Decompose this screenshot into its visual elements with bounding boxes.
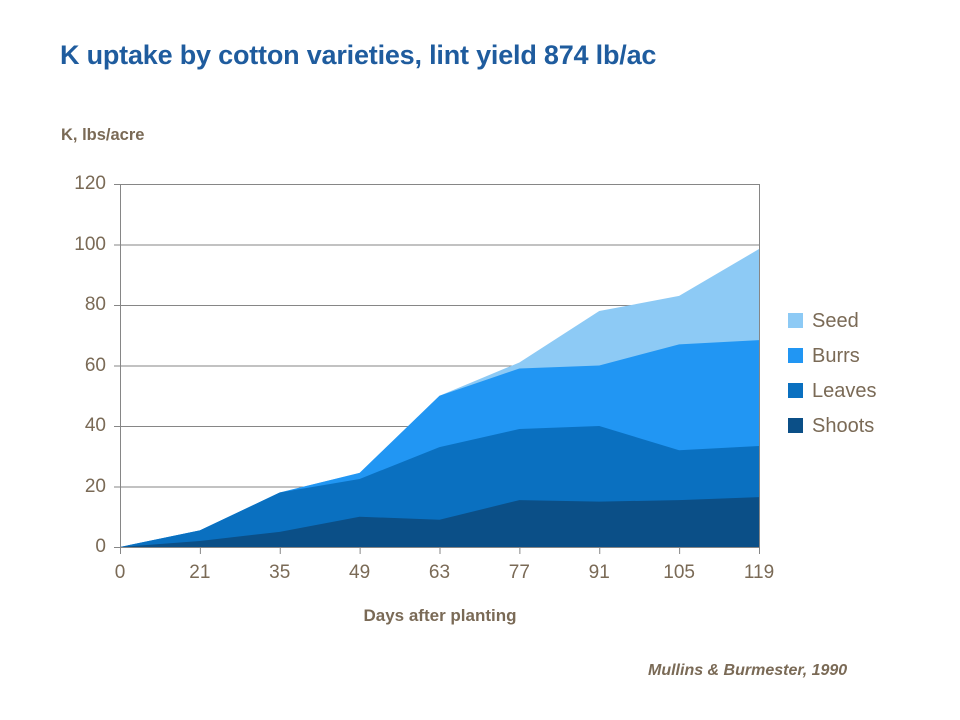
legend-item-seed[interactable]: Seed: [788, 303, 948, 338]
x-tick-label: 77: [489, 563, 549, 582]
y-tick-label: 0: [52, 537, 106, 556]
legend-swatch-icon: [788, 383, 803, 398]
legend-swatch-icon: [788, 418, 803, 433]
legend-swatch-icon: [788, 313, 803, 328]
x-axis-title: Days after planting: [120, 606, 760, 626]
y-tick-label: 20: [52, 477, 106, 496]
legend-item-label: Seed: [812, 311, 859, 331]
slide-canvas: K uptake by cotton varieties, lint yield…: [0, 0, 960, 720]
legend-item-leaves[interactable]: Leaves: [788, 373, 948, 408]
legend-item-burrs[interactable]: Burrs: [788, 338, 948, 373]
legend-item-shoots[interactable]: Shoots: [788, 408, 948, 443]
legend-item-label: Burrs: [812, 346, 860, 366]
x-tick-label: 91: [569, 563, 629, 582]
legend-swatch-icon: [788, 348, 803, 363]
y-tick-label: 40: [52, 416, 106, 435]
source-citation: Mullins & Burmester, 1990: [648, 662, 847, 680]
y-tick-label: 100: [52, 235, 106, 254]
x-tick-label: 49: [330, 563, 390, 582]
y-tick-label: 80: [52, 295, 106, 314]
chart-legend: SeedBurrsLeavesShoots: [788, 303, 948, 443]
x-tick-label: 105: [649, 563, 709, 582]
x-tick-label: 21: [170, 563, 230, 582]
y-tick-label: 120: [52, 174, 106, 193]
x-tick-label: 63: [410, 563, 470, 582]
x-tick-label: 35: [250, 563, 310, 582]
area-series-group: [120, 249, 759, 547]
y-tick-label: 60: [52, 356, 106, 375]
legend-item-label: Shoots: [812, 416, 874, 436]
x-tick-label: 0: [90, 563, 150, 582]
x-tick-label: 119: [729, 563, 789, 582]
legend-item-label: Leaves: [812, 381, 877, 401]
